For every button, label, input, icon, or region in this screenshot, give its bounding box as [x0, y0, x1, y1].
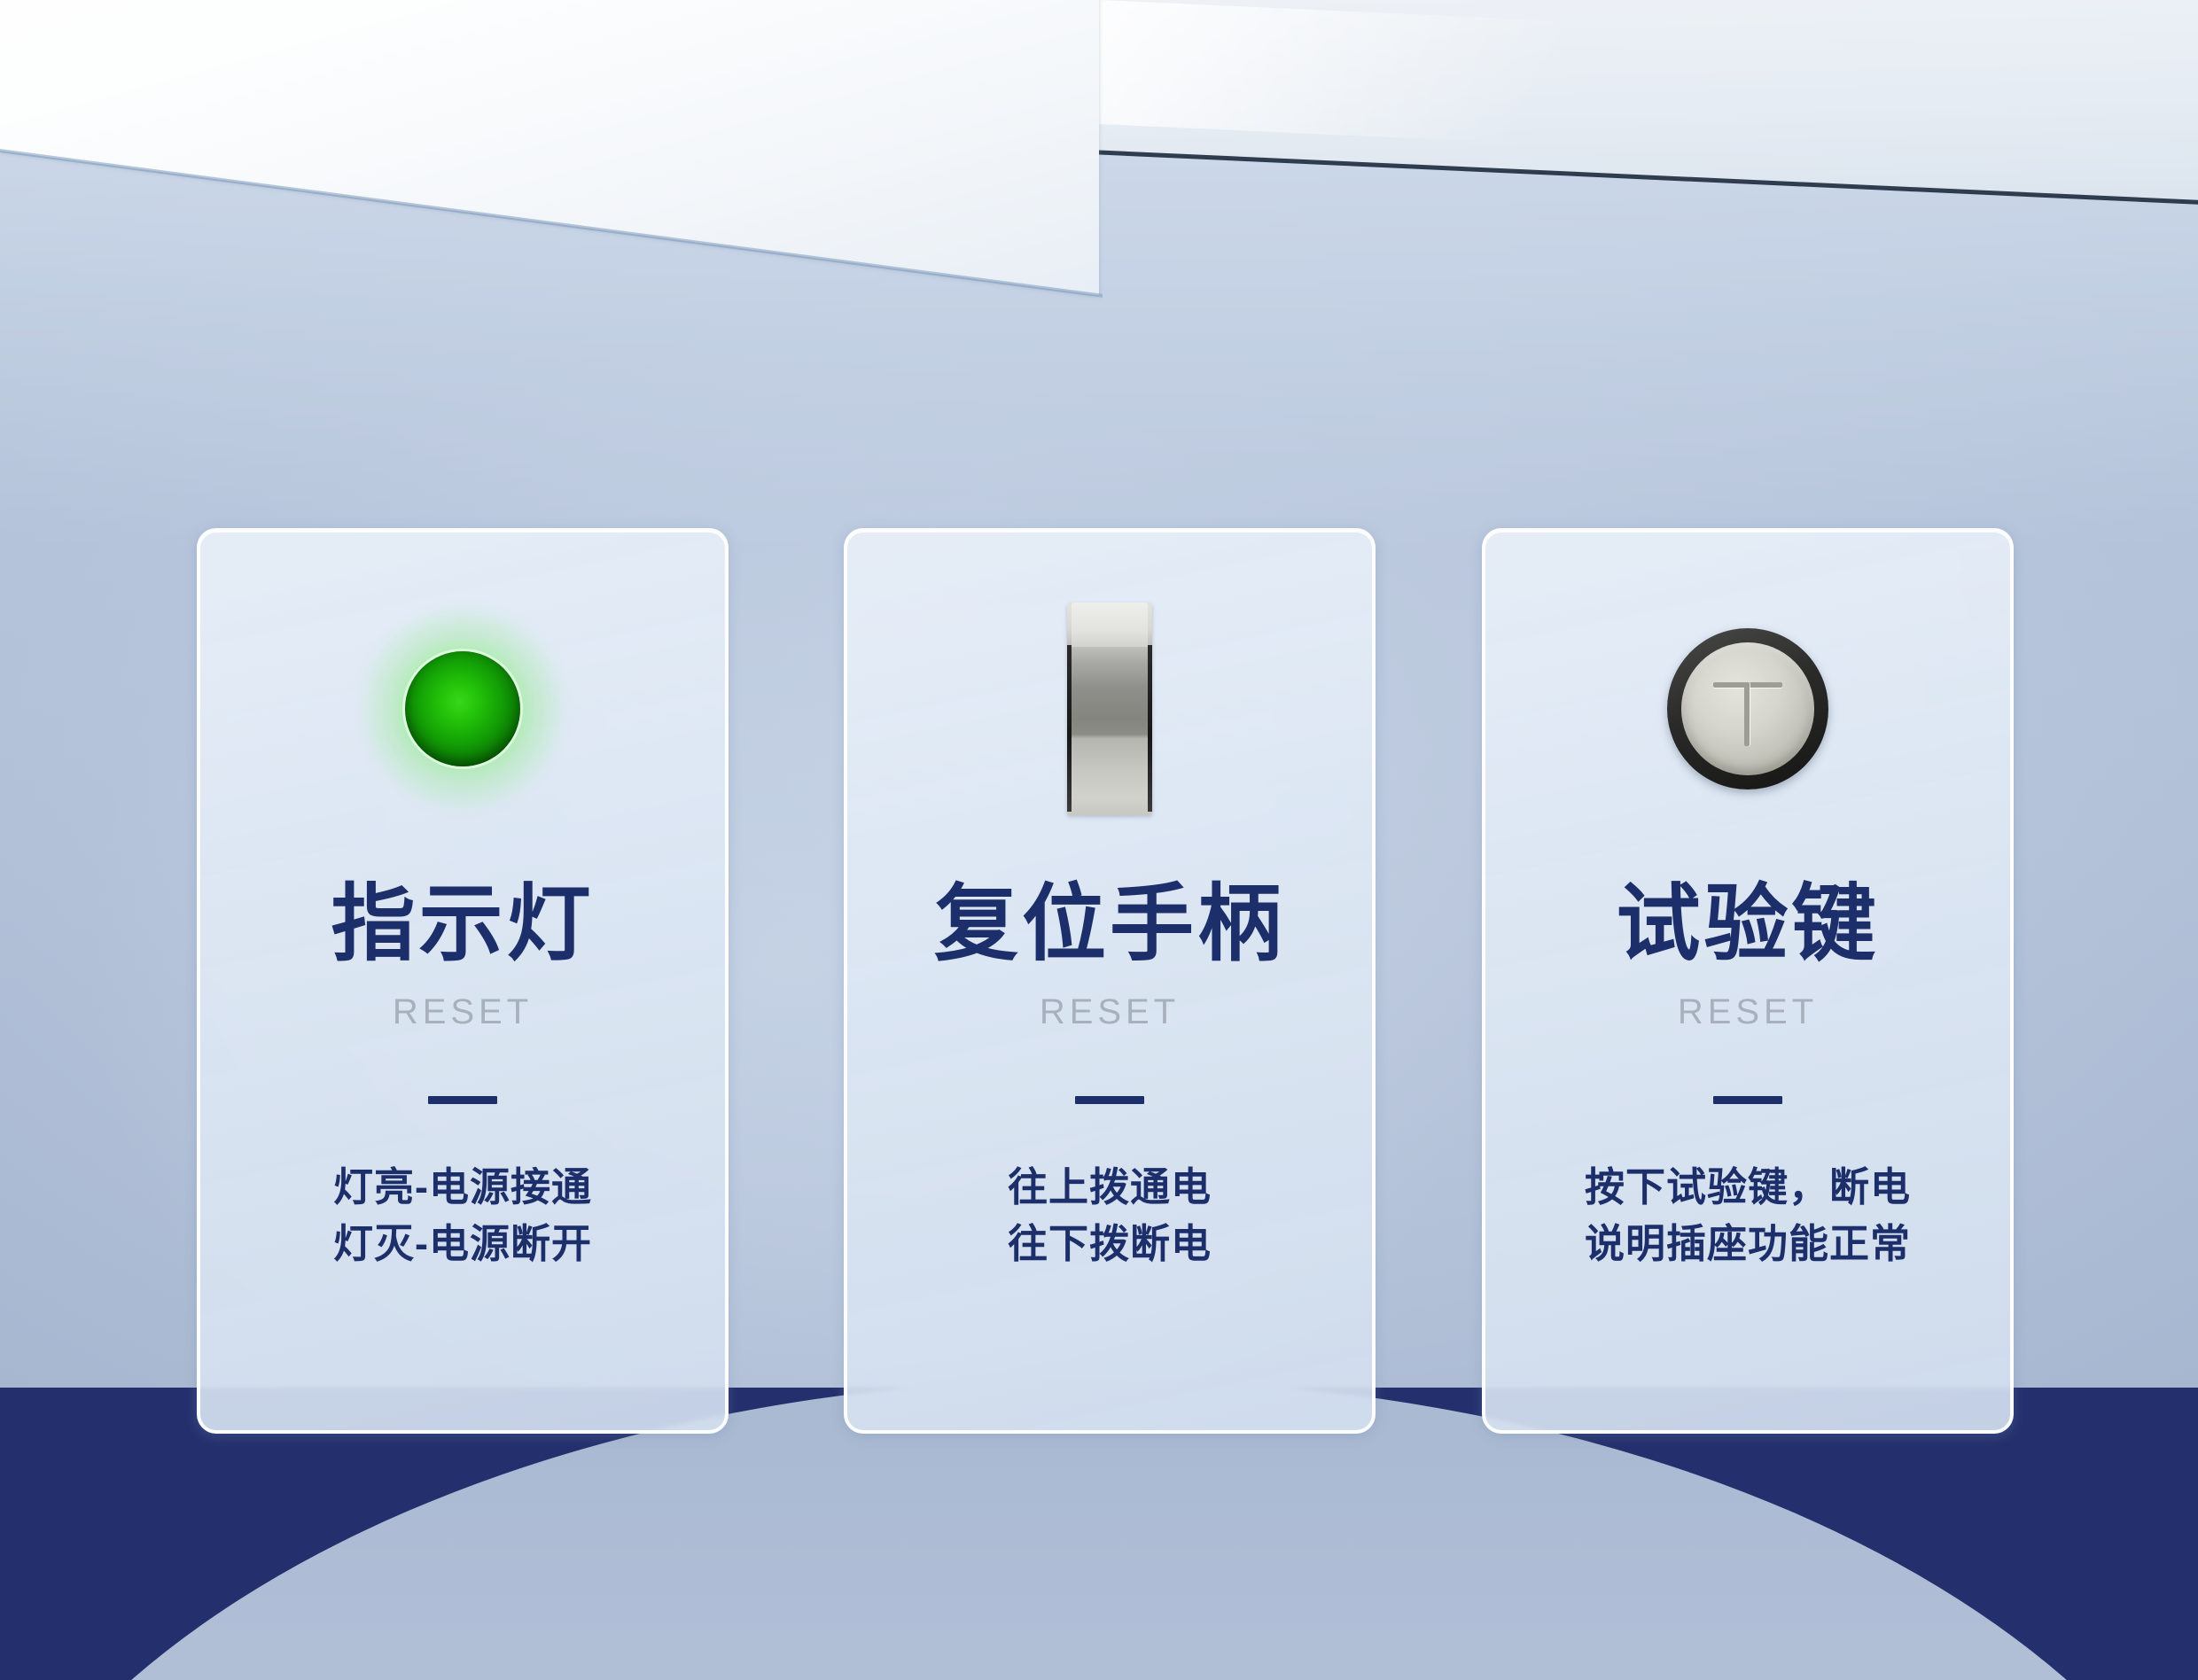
feature-card-reset-handle[interactable]: 复位手柄 RESET 往上拨通电 往下拨断电: [844, 528, 1376, 1434]
test-button-icon-area: [1485, 532, 2010, 886]
card-description-line-2: 灯灭-电源断开: [333, 1216, 592, 1272]
card-description: 按下试验键，断电 说明插座功能正常: [1585, 1159, 1911, 1272]
card-title: 试验键: [1616, 881, 1879, 969]
card-description-line-1: 往上拨通电: [1008, 1159, 1212, 1216]
card-divider: [428, 1096, 497, 1104]
card-description: 往上拨通电 往下拨断电: [1008, 1159, 1212, 1272]
feature-card-indicator-light[interactable]: 指示灯 RESET 灯亮-电源接通 灯灭-电源断开: [197, 528, 729, 1434]
led-lens: [405, 651, 520, 766]
card-description-line-2: 往下拨断电: [1008, 1216, 1212, 1272]
card-title: 指示灯: [331, 881, 594, 969]
card-subtitle: RESET: [1678, 992, 1818, 1032]
feature-card-test-button[interactable]: 试验键 RESET 按下试验键，断电 说明插座功能正常: [1482, 528, 2014, 1434]
card-description-line-1: 按下试验键，断电: [1585, 1159, 1911, 1216]
test-button-face: [1681, 642, 1814, 775]
lever-top-cap: [1072, 603, 1148, 647]
indicator-light-icon-area: [200, 532, 725, 886]
card-divider: [1713, 1096, 1782, 1104]
card-subtitle: RESET: [1040, 992, 1180, 1032]
feature-card-list: 指示灯 RESET 灯亮-电源接通 灯灭-电源断开 复位手柄 RESET 往上拨…: [0, 0, 2198, 1680]
card-divider: [1075, 1096, 1144, 1104]
reset-handle-icon-area: [847, 532, 1372, 886]
card-title: 复位手柄: [934, 881, 1285, 969]
card-description-line-1: 灯亮-电源接通: [333, 1159, 592, 1216]
test-button-t-icon: [1667, 628, 1828, 789]
green-indicator-led-icon: [361, 607, 565, 811]
card-subtitle: RESET: [393, 992, 533, 1032]
card-description: 灯亮-电源接通 灯灭-电源断开: [333, 1159, 592, 1272]
letter-t-glyph: [1711, 672, 1785, 746]
reset-lever-handle-icon: [1067, 603, 1152, 815]
card-description-line-2: 说明插座功能正常: [1585, 1216, 1911, 1272]
